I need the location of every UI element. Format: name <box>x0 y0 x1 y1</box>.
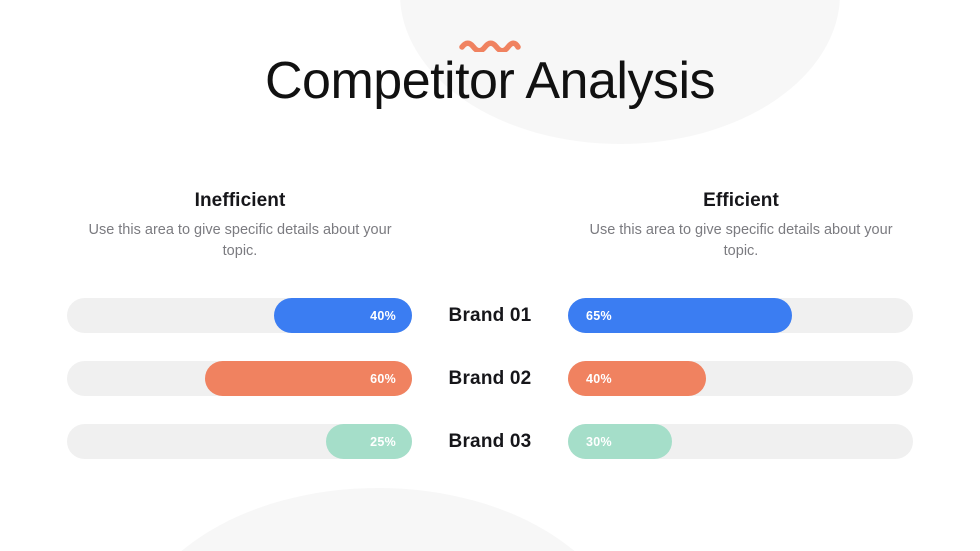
bar-value-right-1: 65% <box>586 309 612 323</box>
bar-track-left-2: 60% <box>67 361 412 396</box>
bar-track-right-2: 40% <box>568 361 913 396</box>
bar-track-left-1: 40% <box>67 298 412 333</box>
bar-fill-right-1: 65% <box>568 298 792 333</box>
background-blob-bottom <box>128 488 628 551</box>
brand-label-3: Brand 03 <box>412 424 568 459</box>
brand-label-2: Brand 02 <box>412 361 568 396</box>
bar-fill-left-1: 40% <box>274 298 412 333</box>
slide-canvas: Competitor Analysis Inefficient Use this… <box>0 0 980 551</box>
bar-value-left-1: 40% <box>370 309 396 323</box>
bar-track-right-1: 65% <box>568 298 913 333</box>
column-title-left: Inefficient <box>67 190 413 212</box>
bar-track-left-3: 25% <box>67 424 412 459</box>
column-subtitle-left: Use this area to give specific details a… <box>67 220 413 262</box>
bar-value-left-3: 25% <box>370 435 396 449</box>
bar-value-left-2: 60% <box>370 372 396 386</box>
bar-fill-right-3: 30% <box>568 424 672 459</box>
bar-value-right-2: 40% <box>586 372 612 386</box>
column-header-inefficient: Inefficient Use this area to give specif… <box>67 190 413 262</box>
bar-fill-left-2: 60% <box>205 361 412 396</box>
comparison-rows: 40% Brand 01 65% 60% Brand 02 40% <box>0 298 980 459</box>
page-title: Competitor Analysis <box>0 54 980 109</box>
bar-track-right-3: 30% <box>568 424 913 459</box>
title-block: Competitor Analysis <box>0 38 980 109</box>
bar-row: 40% Brand 01 65% <box>0 298 980 333</box>
wavy-underline-icon <box>459 38 521 52</box>
bar-fill-left-3: 25% <box>326 424 412 459</box>
column-title-right: Efficient <box>568 190 914 212</box>
column-header-efficient: Efficient Use this area to give specific… <box>568 190 914 262</box>
bar-row: 60% Brand 02 40% <box>0 361 980 396</box>
brand-label-1: Brand 01 <box>412 298 568 333</box>
bar-value-right-3: 30% <box>586 435 612 449</box>
bar-fill-right-2: 40% <box>568 361 706 396</box>
bar-row: 25% Brand 03 30% <box>0 424 980 459</box>
column-subtitle-right: Use this area to give specific details a… <box>568 220 914 262</box>
